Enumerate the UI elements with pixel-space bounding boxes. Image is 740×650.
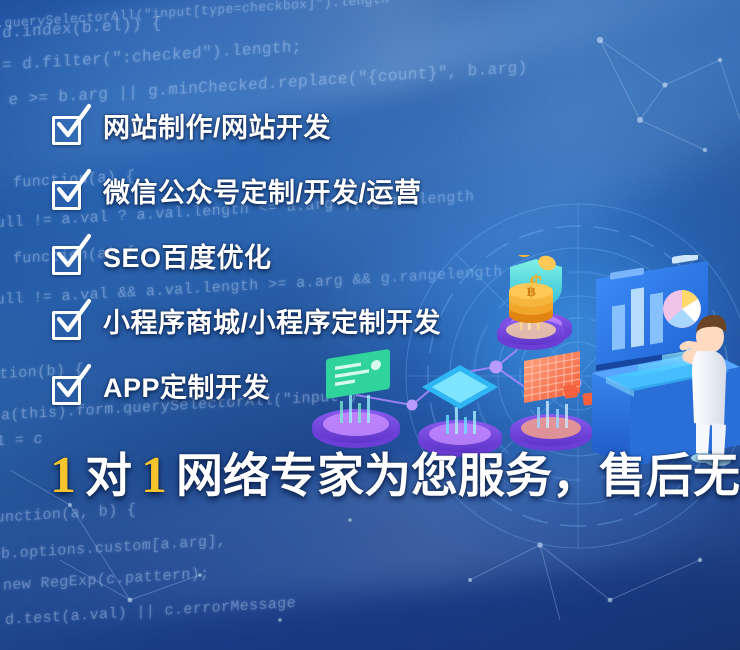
code-line: = b.options.custom[a.arg], xyxy=(0,533,226,565)
checked-box-icon xyxy=(52,113,84,145)
list-item-label: 小程序商城/小程序定制开发 xyxy=(103,310,441,337)
tagline-number-second: 1 xyxy=(141,450,167,502)
list-item[interactable]: APP定制开发 xyxy=(52,356,692,421)
tagline-number-first: 1 xyxy=(50,450,76,502)
checked-box-icon xyxy=(52,243,84,275)
tagline: 1 对 1 网络专家为您服务，售后无忧！ xyxy=(50,450,740,502)
code-line: 1 = c xyxy=(0,431,43,451)
code-line: function(a, b) { xyxy=(0,502,136,528)
list-item-label: 微信公众号定制/开发/运营 xyxy=(103,180,422,207)
promo-banner: .querySelectorAll("input[type=checkbox]"… xyxy=(0,0,740,650)
tagline-word-mid: 对 xyxy=(85,452,132,499)
list-item[interactable]: 小程序商城/小程序定制开发 xyxy=(52,291,692,356)
checked-box-icon xyxy=(52,373,84,405)
code-line: e = d.filter(":checked").length; xyxy=(0,38,302,76)
list-item-label: 网站制作/网站开发 xyxy=(103,115,331,142)
list-item[interactable]: 网站制作/网站开发 xyxy=(52,96,692,161)
checked-box-icon xyxy=(52,178,84,210)
checked-box-icon xyxy=(52,308,84,340)
code-line: .querySelectorAll("input[type=checkbox]"… xyxy=(0,0,389,31)
code-line: = new RegExp(c.pattern); xyxy=(0,565,210,595)
list-item[interactable]: SEO百度优化 xyxy=(52,226,692,291)
code-line: n d.test(a.val) || c.errorMessage xyxy=(0,595,296,630)
tagline-rest: 网络专家为您服务，售后无忧！ xyxy=(176,452,740,499)
list-item-label: APP定制开发 xyxy=(103,375,270,402)
code-line: = d.index(b.el)) { xyxy=(0,14,162,43)
service-checklist: 网站制作/网站开发 微信公众号定制/开发/运营 SEO百度优化 小程序商城/小程… xyxy=(52,96,692,421)
list-item[interactable]: 微信公众号定制/开发/运营 xyxy=(52,161,692,226)
list-item-label: SEO百度优化 xyxy=(103,245,272,272)
